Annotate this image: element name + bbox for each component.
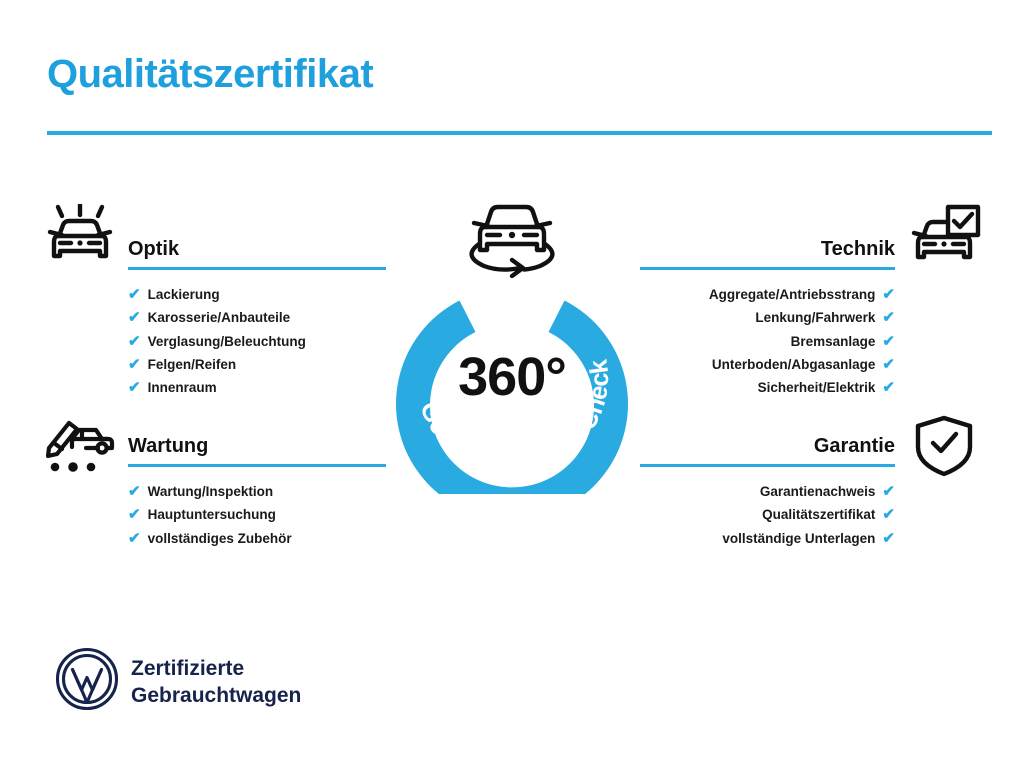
check-icon: ✔ (882, 357, 895, 372)
section-technik-title: Technik (640, 236, 895, 262)
section-technik-divider (640, 267, 895, 270)
section-garantie-divider (640, 464, 895, 467)
list-item: ✔ Wartung/Inspektion (128, 480, 386, 503)
list-item: Qualitätszertifikat ✔ (640, 503, 895, 526)
list-item: ✔ Hauptuntersuchung (128, 503, 386, 526)
list-item: Unterboden/Abgasanlage ✔ (640, 353, 895, 376)
section-wartung: Wartung ✔ Wartung/Inspektion ✔ Hauptunte… (128, 433, 386, 550)
section-optik-list: ✔ Lackierung ✔ Karosserie/Anbauteile ✔ V… (128, 283, 386, 399)
list-item: ✔ Felgen/Reifen (128, 353, 386, 376)
list-item-label: Qualitätszertifikat (762, 503, 875, 526)
list-item: vollständige Unterlagen ✔ (640, 527, 895, 550)
list-item-label: Garantienachweis (760, 480, 876, 503)
section-optik-divider (128, 267, 386, 270)
list-item-label: Karosserie/Anbauteile (148, 306, 291, 329)
volkswagen-logo-icon (55, 647, 119, 716)
list-item-label: Wartung/Inspektion (148, 480, 274, 503)
section-wartung-header: Wartung (128, 433, 386, 467)
check-icon: ✔ (128, 484, 141, 499)
list-item-label: Innenraum (148, 376, 217, 399)
check-icon: ✔ (128, 531, 141, 546)
check-icon: ✔ (882, 287, 895, 302)
list-item-label: vollständiges Zubehör (148, 527, 292, 550)
section-technik: Technik Aggregate/Antriebsstrang ✔ Lenku… (640, 236, 895, 399)
check-icon: ✔ (882, 531, 895, 546)
list-item: ✔ Karosserie/Anbauteile (128, 306, 386, 329)
gebrauchtwagen-check-badge: Gebrauchtwagen-Check 360° (378, 262, 646, 494)
pencil-car-service-icon (46, 417, 116, 480)
section-garantie: Garantie Garantienachweis ✔ Qualitätszer… (640, 433, 895, 550)
section-garantie-header: Garantie (640, 433, 895, 467)
badge-center-label: 360° (378, 346, 646, 408)
check-icon: ✔ (128, 357, 141, 372)
section-wartung-divider (128, 464, 386, 467)
volkswagen-wordmark: Zertifizierte Gebrauchtwagen (131, 655, 301, 709)
car-rotate-360-icon (460, 200, 564, 283)
section-optik: Optik ✔ Lackierung ✔ Karosserie/Anbautei… (128, 236, 386, 399)
check-icon: ✔ (128, 507, 141, 522)
section-garantie-list: Garantienachweis ✔ Qualitätszertifikat ✔… (640, 480, 895, 550)
check-icon: ✔ (128, 287, 141, 302)
list-item: ✔ Lackierung (128, 283, 386, 306)
section-technik-list: Aggregate/Antriebsstrang ✔ Lenkung/Fahrw… (640, 283, 895, 399)
list-item: Aggregate/Antriebsstrang ✔ (640, 283, 895, 306)
list-item-label: Lackierung (148, 283, 220, 306)
list-item: Lenkung/Fahrwerk ✔ (640, 306, 895, 329)
list-item-label: Unterboden/Abgasanlage (712, 353, 876, 376)
list-item-label: Lenkung/Fahrwerk (755, 306, 875, 329)
list-item: ✔ Innenraum (128, 376, 386, 399)
list-item-label: Bremsanlage (791, 330, 876, 353)
section-technik-header: Technik (640, 236, 895, 270)
list-item: ✔ vollständiges Zubehör (128, 527, 386, 550)
shield-check-icon (913, 414, 975, 483)
section-wartung-title: Wartung (128, 433, 386, 459)
title-divider (47, 131, 992, 135)
section-optik-title: Optik (128, 236, 386, 262)
list-item-label: vollständige Unterlagen (722, 527, 875, 550)
list-item-label: Felgen/Reifen (148, 353, 237, 376)
check-icon: ✔ (128, 310, 141, 325)
check-icon: ✔ (882, 380, 895, 395)
section-wartung-list: ✔ Wartung/Inspektion ✔ Hauptuntersuchung… (128, 480, 386, 550)
list-item: Bremsanlage ✔ (640, 330, 895, 353)
car-checkbox-icon (911, 204, 981, 271)
list-item-label: Sicherheit/Elektrik (758, 376, 876, 399)
check-icon: ✔ (882, 484, 895, 499)
list-item-label: Aggregate/Antriebsstrang (709, 283, 876, 306)
list-item: Sicherheit/Elektrik ✔ (640, 376, 895, 399)
section-optik-header: Optik (128, 236, 386, 270)
list-item: Garantienachweis ✔ (640, 480, 895, 503)
list-item-label: Hauptuntersuchung (148, 503, 276, 526)
section-garantie-title: Garantie (640, 433, 895, 459)
check-icon: ✔ (882, 334, 895, 349)
check-icon: ✔ (882, 507, 895, 522)
check-icon: ✔ (128, 334, 141, 349)
list-item: ✔ Verglasung/Beleuchtung (128, 330, 386, 353)
check-icon: ✔ (128, 380, 141, 395)
check-icon: ✔ (882, 310, 895, 325)
car-shine-icon (46, 204, 116, 271)
list-item-label: Verglasung/Beleuchtung (148, 330, 306, 353)
page-title: Qualitätszertifikat (47, 52, 373, 97)
